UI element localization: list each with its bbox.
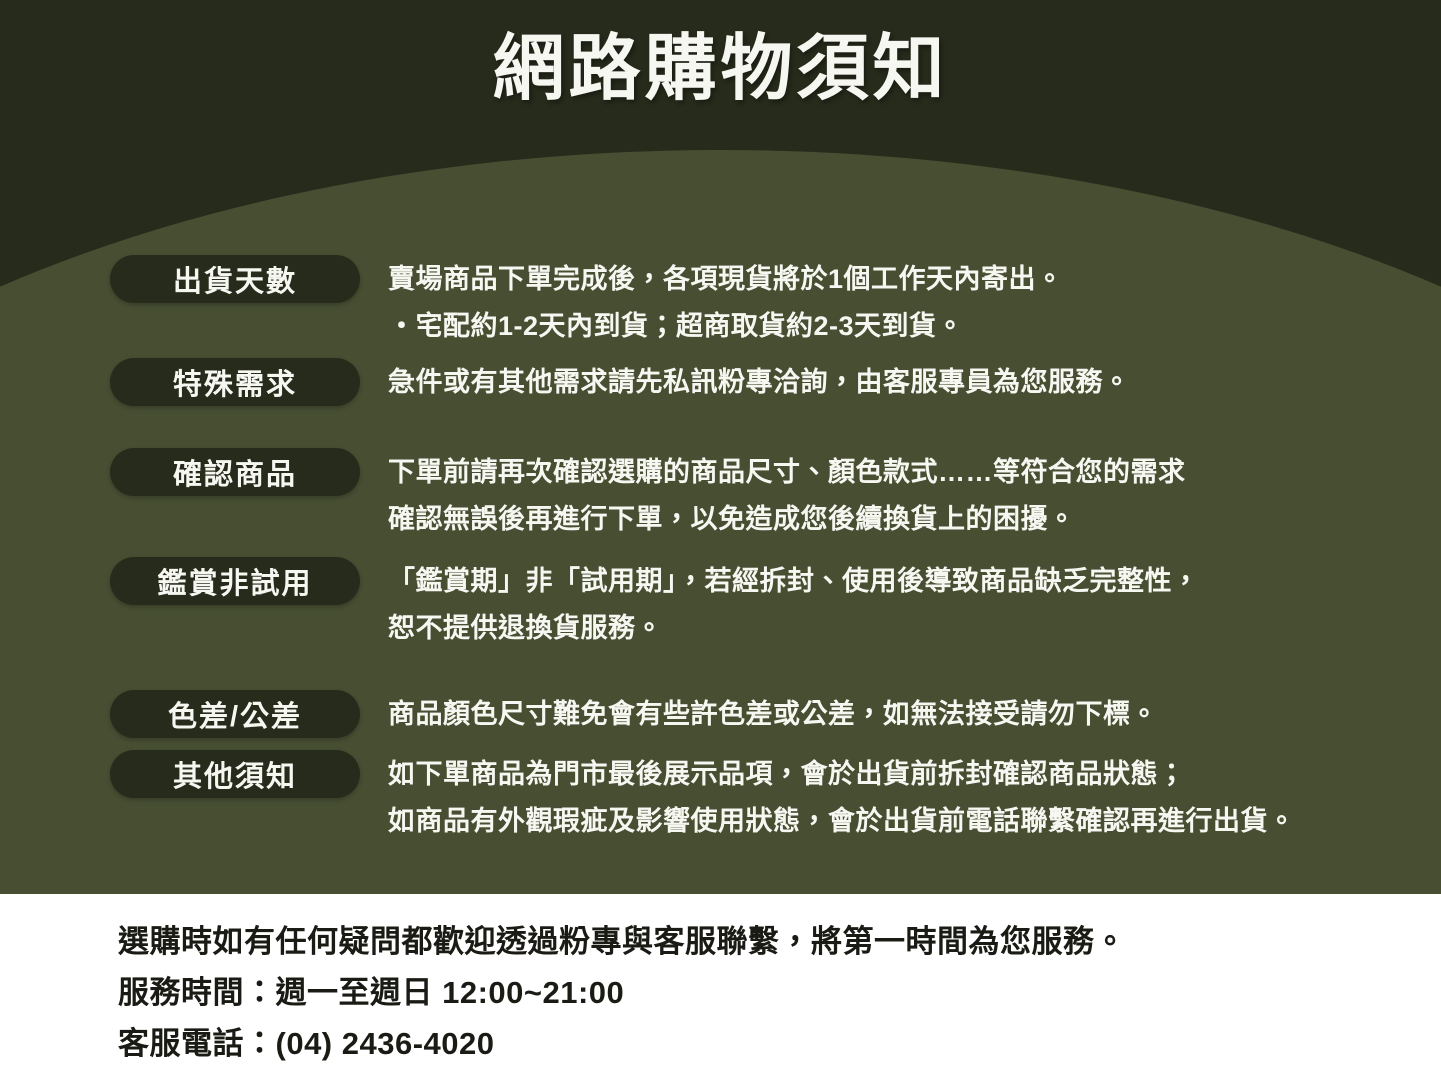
notice-badge-color-size-tolerance: 色差/公差 (110, 690, 360, 738)
notice-line: 如商品有外觀瑕疵及影響使用狀態，會於出貨前電話聯繫確認再進行出貨。 (388, 798, 1296, 845)
notice-badge-shipping-days: 出貨天數 (110, 255, 360, 303)
notice-badge-other-notes: 其他須知 (110, 750, 360, 798)
notice-body: 如下單商品為門市最後展示品項，會於出貨前拆封確認商品狀態； 如商品有外觀瑕疵及影… (388, 750, 1296, 845)
notice-line: 確認無誤後再進行下單，以免造成您後續換貨上的困擾。 (388, 496, 1186, 543)
notice-row: 特殊需求 急件或有其他需求請先私訊粉專洽詢，由客服專員為您服務。 (110, 358, 1421, 406)
notice-row: 鑑賞非試用 「鑑賞期」非「試用期」，若經拆封、使用後導致商品缺乏完整性， 恕不提… (110, 557, 1421, 652)
notice-rows: 出貨天數 賣場商品下單完成後，各項現貨將於1個工作天內寄出。 ・宅配約1-2天內… (0, 0, 1441, 894)
footer-service-phone: 客服電話：(04) 2436-4020 (118, 1024, 495, 1064)
notice-badge-confirm-product: 確認商品 (110, 448, 360, 496)
notice-row: 色差/公差 商品顏色尺寸難免會有些許色差或公差，如無法接受請勿下標。 (110, 690, 1421, 738)
notice-line: 恕不提供退換貨服務。 (388, 605, 1200, 652)
shopping-notice-page: 網路購物須知 出貨天數 賣場商品下單完成後，各項現貨將於1個工作天內寄出。 ・宅… (0, 0, 1441, 1080)
footer-contact-invitation: 選購時如有任何疑問都歡迎透過粉專與客服聯繫，將第一時間為您服務。 (118, 922, 1126, 962)
notice-line: 「鑑賞期」非「試用期」，若經拆封、使用後導致商品缺乏完整性， (388, 558, 1200, 605)
notice-body: 下單前請再次確認選購的商品尺寸、顏色款式……等符合您的需求 確認無誤後再進行下單… (388, 448, 1186, 543)
notice-badge-inspection-not-trial: 鑑賞非試用 (110, 557, 360, 605)
notice-line: 急件或有其他需求請先私訊粉專洽詢，由客服專員為您服務。 (388, 359, 1131, 406)
notice-row: 出貨天數 賣場商品下單完成後，各項現貨將於1個工作天內寄出。 ・宅配約1-2天內… (110, 255, 1421, 350)
contact-footer: 選購時如有任何疑問都歡迎透過粉專與客服聯繫，將第一時間為您服務。 服務時間：週一… (0, 894, 1441, 1080)
notice-badge-special-request: 特殊需求 (110, 358, 360, 406)
notice-line: 下單前請再次確認選購的商品尺寸、顏色款式……等符合您的需求 (388, 449, 1186, 496)
footer-service-hours: 服務時間：週一至週日 12:00~21:00 (118, 973, 624, 1013)
notice-body: 急件或有其他需求請先私訊粉專洽詢，由客服專員為您服務。 (388, 358, 1131, 406)
notice-body: 「鑑賞期」非「試用期」，若經拆封、使用後導致商品缺乏完整性， 恕不提供退換貨服務… (388, 557, 1200, 652)
notice-body: 商品顏色尺寸難免會有些許色差或公差，如無法接受請勿下標。 (388, 690, 1158, 738)
notice-body: 賣場商品下單完成後，各項現貨將於1個工作天內寄出。 ・宅配約1-2天內到貨；超商… (388, 255, 1064, 350)
notice-line: 賣場商品下單完成後，各項現貨將於1個工作天內寄出。 (388, 256, 1064, 303)
notice-row: 其他須知 如下單商品為門市最後展示品項，會於出貨前拆封確認商品狀態； 如商品有外… (110, 750, 1421, 845)
notice-line: ・宅配約1-2天內到貨；超商取貨約2-3天到貨。 (388, 303, 1064, 350)
notice-line: 如下單商品為門市最後展示品項，會於出貨前拆封確認商品狀態； (388, 751, 1296, 798)
notice-row: 確認商品 下單前請再次確認選購的商品尺寸、顏色款式……等符合您的需求 確認無誤後… (110, 448, 1421, 543)
notice-line: 商品顏色尺寸難免會有些許色差或公差，如無法接受請勿下標。 (388, 691, 1158, 738)
